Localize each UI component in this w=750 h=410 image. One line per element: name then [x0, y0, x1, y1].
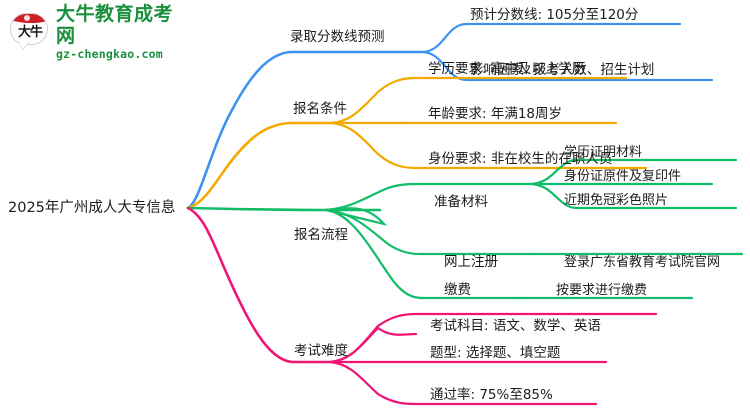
mindmap-node-exam-subjects[interactable]: 考试科目: 语文、数学、英语 — [430, 320, 601, 334]
mindmap-node-payment-detail[interactable]: 按要求进行缴费 — [556, 284, 647, 297]
mindmap-node-online-registration[interactable]: 网上注册 — [444, 256, 498, 270]
mindmap-node-prepare-materials[interactable]: 准备材料 — [434, 196, 488, 210]
mindmap-branch-1-label[interactable]: 录取分数线预测 — [290, 31, 385, 45]
mindmap-branch-2-label[interactable]: 报名条件 — [293, 103, 347, 117]
mindmap-node-education-requirement[interactable]: 学历要求: 高中及以上学历 — [428, 63, 585, 77]
mindmap-node-payment[interactable]: 缴费 — [444, 284, 471, 298]
mindmap: 2025年广州成人大专信息 录取分数线预测 预计分数线: 105分至120分 影… — [0, 0, 750, 410]
mindmap-root-node[interactable]: 2025年广州成人大专信息 — [8, 201, 175, 216]
mindmap-node-age-requirement[interactable]: 年龄要求: 年满18周岁 — [428, 108, 562, 122]
mindmap-node-recent-photo[interactable]: 近期免冠彩色照片 — [564, 194, 668, 207]
mindmap-node-official-site[interactable]: 登录广东省教育考试院官网 — [564, 256, 720, 269]
mindmap-node-question-types[interactable]: 题型: 选择题、填空题 — [430, 347, 560, 361]
mindmap-node-score-line[interactable]: 预计分数线: 105分至120分 — [470, 9, 638, 23]
mindmap-branch-3-label[interactable]: 报名流程 — [294, 229, 348, 243]
mindmap-branch-4-label[interactable]: 考试难度 — [294, 345, 348, 359]
mindmap-node-pass-rate[interactable]: 通过率: 75%至85% — [430, 389, 553, 403]
mindmap-node-id-copy[interactable]: 身份证原件及复印件 — [564, 170, 681, 183]
mindmap-node-education-proof[interactable]: 学历证明材料 — [564, 146, 642, 159]
